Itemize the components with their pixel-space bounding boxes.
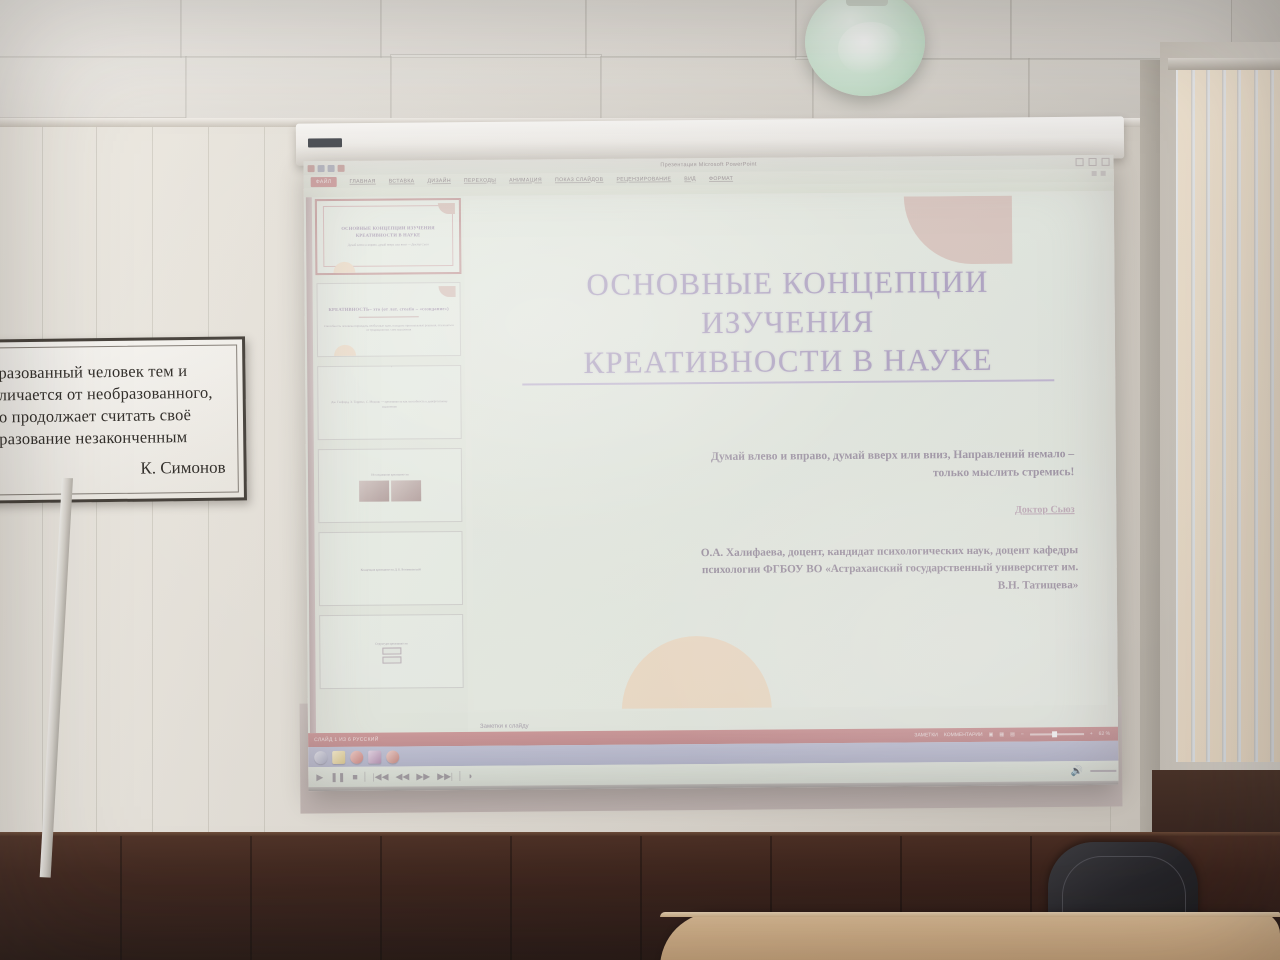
thumb-frame: [323, 205, 453, 267]
plaque-inner-border: разованный человек тем и личается от нео…: [0, 344, 239, 495]
media-right-group[interactable]: 🔊: [1071, 765, 1119, 776]
plaque-line-4: разование незаконченным: [0, 425, 225, 450]
thumb-diagram-node: [382, 656, 401, 663]
thumbnail-slide-3[interactable]: 3 Дж. Гилфорд, Э. Торренс, С. Медник — к…: [317, 365, 462, 440]
slide-thumbnail-panel[interactable]: 1 ОСНОВНЫЕ КОНЦЕПЦИИ ИЗУЧЕНИЯ КРЕАТИВНОС…: [304, 196, 468, 733]
view-normal-icon[interactable]: ▣: [989, 732, 994, 738]
mouse-cursor-icon: [391, 365, 401, 369]
zoom-slider-handle[interactable]: [1052, 731, 1057, 737]
slide-title-line-3: КРЕАТИВНОСТИ В НАУКЕ: [522, 340, 1055, 386]
window-controls[interactable]: [1076, 158, 1110, 166]
thumbnail-subtitle: Структура креативности: [375, 642, 407, 647]
maximize-icon[interactable]: [1089, 158, 1097, 166]
app-icon-media[interactable]: [350, 750, 363, 763]
thumb-divider: [358, 316, 419, 317]
slide-quote[interactable]: Думай влево и вправо, думай вверх или вн…: [675, 445, 1075, 484]
table-edge-highlight: [660, 912, 1280, 917]
conference-table: [660, 912, 1280, 960]
zoom-out-icon[interactable]: −: [1021, 732, 1024, 738]
view-reading-icon[interactable]: ▤: [1010, 732, 1015, 738]
zoom-in-icon[interactable]: +: [1090, 731, 1093, 737]
tab-animations[interactable]: АНИМАЦИЯ: [509, 177, 542, 183]
play-icon[interactable]: ▶: [316, 773, 323, 782]
thumbnail-slide-2[interactable]: 2 КРЕАТИВНОСТЬ– это (от лат. creatio – «…: [316, 282, 461, 357]
media-separator: [365, 772, 366, 782]
slide-title-line-2: ИЗУЧЕНИЯ: [521, 301, 1054, 344]
zoom-slider[interactable]: [1030, 733, 1084, 735]
app-icon-powerpoint[interactable]: [368, 750, 381, 763]
projector-screen: Презентация Microsoft PowerPoint ФАЙЛ ГЛ…: [304, 155, 1119, 791]
ribbon-help-icons[interactable]: [1092, 171, 1106, 176]
plaque-line-1: разованный человек тем и: [0, 360, 225, 385]
app-icon-music[interactable]: [386, 750, 399, 763]
thumbnail-scrollbar[interactable]: [306, 197, 316, 733]
slide-quote-attribution[interactable]: Доктор Сьюз: [1015, 504, 1075, 515]
powerpoint-body: 1 ОСНОВНЫЕ КОНЦЕПЦИИ ИЗУЧЕНИЯ КРЕАТИВНОС…: [304, 191, 1118, 733]
status-slide-counter: СЛАЙД 1 ИЗ 6 РУССКИЙ: [308, 737, 379, 744]
tab-review[interactable]: РЕЦЕНЗИРОВАНИЕ: [616, 176, 671, 182]
thumb-diagram-node: [382, 647, 401, 654]
powerpoint-window[interactable]: Презентация Microsoft PowerPoint ФАЙЛ ГЛ…: [304, 155, 1119, 791]
slide-author-credit[interactable]: О.А. Халифаева, доцент, кандидат психоло…: [698, 542, 1079, 597]
slide-title-line-1: ОСНОВНЫЕ КОНЦЕПЦИИ: [521, 262, 1054, 305]
app-icon-folder[interactable]: [332, 750, 345, 763]
tab-transitions[interactable]: ПЕРЕХОДЫ: [464, 177, 496, 183]
slide-editing-area[interactable]: ОСНОВНЫЕ КОНЦЕПЦИИ ИЗУЧЕНИЯ КРЕАТИВНОСТИ…: [464, 191, 1118, 732]
plaque-line-3: о продолжает считать своё: [0, 403, 225, 428]
slide-title[interactable]: ОСНОВНЫЕ КОНЦЕПЦИИ ИЗУЧЕНИЯ КРЕАТИВНОСТИ…: [521, 262, 1054, 386]
close-icon[interactable]: [1102, 158, 1110, 166]
thumbnail-slide-4[interactable]: 4 Исследования креативности: [318, 448, 463, 523]
tab-format[interactable]: ФОРМАТ: [709, 175, 733, 181]
thumb-half-shape: [334, 345, 356, 356]
current-slide[interactable]: ОСНОВНЫЕ КОНЦЕПЦИИ ИЗУЧЕНИЯ КРЕАТИВНОСТИ…: [470, 195, 1108, 710]
thumbnail-subtitle: Исследования креативности: [371, 473, 408, 478]
status-comments-button[interactable]: КОММЕНТАРИИ: [944, 732, 983, 738]
ceiling: [0, 0, 1280, 130]
plaque-author: К. Симонов: [0, 457, 226, 480]
ribbon-collapse-icon[interactable]: [1101, 171, 1106, 176]
thumb-quarter-shape: [439, 286, 456, 297]
status-notes-button[interactable]: ЗАМЕТКИ: [914, 732, 937, 738]
tab-design[interactable]: ДИЗАЙН: [427, 178, 450, 184]
volume-slider[interactable]: [1090, 770, 1116, 772]
tab-insert[interactable]: ВСТАВКА: [389, 178, 415, 184]
lamp-base: [846, 0, 888, 6]
eject-icon[interactable]: ◗: [468, 771, 474, 780]
status-right-group[interactable]: ЗАМЕТКИ КОММЕНТАРИИ ▣ ▦ ▤ − + 62 %: [914, 731, 1118, 739]
volume-icon[interactable]: 🔊: [1071, 766, 1084, 777]
thumbnail-title: КРЕАТИВНОСТЬ– это (от лат. creatio – «со…: [328, 306, 448, 314]
wall-plaque: разованный человек тем и личается от нео…: [0, 336, 247, 503]
help-icon[interactable]: [1092, 171, 1097, 176]
lamp-highlight: [838, 22, 904, 76]
app-icon-browser[interactable]: [314, 751, 327, 764]
thumbnail-subtitle: Концепция креативности Д. Б. Богоявленск…: [361, 567, 421, 572]
thumb-photo-2: [391, 480, 421, 501]
notes-placeholder[interactable]: Заметки к слайду: [480, 723, 529, 729]
tab-view[interactable]: ВИД: [684, 176, 696, 182]
roller-brand-label: [308, 138, 342, 147]
slide-quarter-circle-decoration: [904, 196, 1013, 265]
previous-track-icon[interactable]: |◀◀: [373, 772, 389, 781]
minimize-icon[interactable]: [1076, 158, 1084, 166]
tab-slideshow[interactable]: ПОКАЗ СЛАЙДОВ: [555, 176, 604, 182]
thumb-image-row: [359, 480, 421, 501]
plaque-line-2: личается от необразованного,: [0, 382, 225, 407]
window-glass: [1176, 62, 1280, 762]
tab-file[interactable]: ФАЙЛ: [311, 176, 337, 186]
thumb-photo-1: [359, 480, 389, 501]
tab-home[interactable]: ГЛАВНАЯ: [350, 178, 376, 184]
zoom-level[interactable]: 62 %: [1099, 731, 1110, 737]
stop-icon[interactable]: ■: [352, 772, 358, 781]
thumbnail-slide-1[interactable]: 1 ОСНОВНЫЕ КОНЦЕПЦИИ ИЗУЧЕНИЯ КРЕАТИВНОС…: [316, 199, 461, 274]
pause-icon[interactable]: ❚❚: [330, 772, 345, 781]
slide-half-circle-decoration: [621, 636, 772, 710]
lecture-room-photo: разованный человек тем и личается от нео…: [0, 0, 1280, 960]
blind-rail[interactable]: [1168, 58, 1280, 70]
rewind-icon[interactable]: ◀◀: [395, 772, 409, 781]
view-sorter-icon[interactable]: ▦: [999, 732, 1004, 738]
thumbnail-slide-5[interactable]: 5 Концепция креативности Д. Б. Богоявлен…: [318, 531, 463, 606]
media-separator: [460, 771, 461, 781]
thumbnail-subtitle: Способность человека порождать необычные…: [323, 323, 455, 333]
fast-forward-icon[interactable]: ▶▶: [416, 772, 430, 781]
thumbnail-slide-6[interactable]: 6 Структура креативности: [319, 614, 464, 689]
next-track-icon[interactable]: ▶▶|: [437, 772, 453, 781]
thumbnail-subtitle: Дж. Гилфорд, Э. Торренс, С. Медник — кре…: [323, 399, 455, 409]
